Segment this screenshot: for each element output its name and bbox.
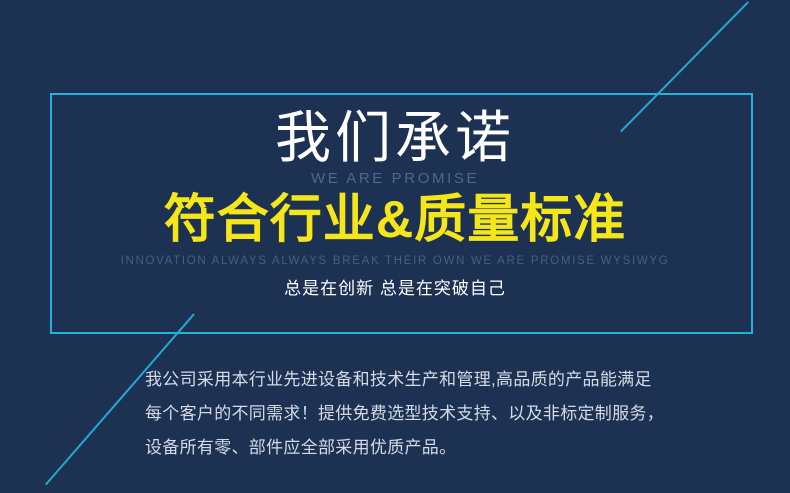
tagline-chinese: 总是在创新 总是在突破自己 [0, 278, 790, 300]
headline-highlight: 符合行业&质量标准 [0, 191, 790, 249]
page-title: 我们承诺 [0, 93, 790, 171]
page-subtitle-english: WE ARE PROMISE [0, 169, 790, 189]
hero-text-block: 我们承诺 WE ARE PROMISE 符合行业&质量标准 INNOVATION… [0, 93, 790, 334]
description-line: 每个客户的不同需求！提供免费选型技术支持、以及非标定制服务， [145, 397, 705, 431]
description-line: 我公司采用本行业先进设备和技术生产和管理,高品质的产品能满足 [145, 363, 705, 397]
description-line: 设备所有零、部件应全部采用优质产品。 [145, 431, 705, 465]
tagline-english: INNOVATION ALWAYS ALWAYS BREAK THEIR OWN… [0, 253, 790, 269]
promise-banner: 我们承诺 WE ARE PROMISE 符合行业&质量标准 INNOVATION… [0, 0, 790, 493]
description-paragraph: 我公司采用本行业先进设备和技术生产和管理,高品质的产品能满足 每个客户的不同需求… [145, 363, 705, 465]
